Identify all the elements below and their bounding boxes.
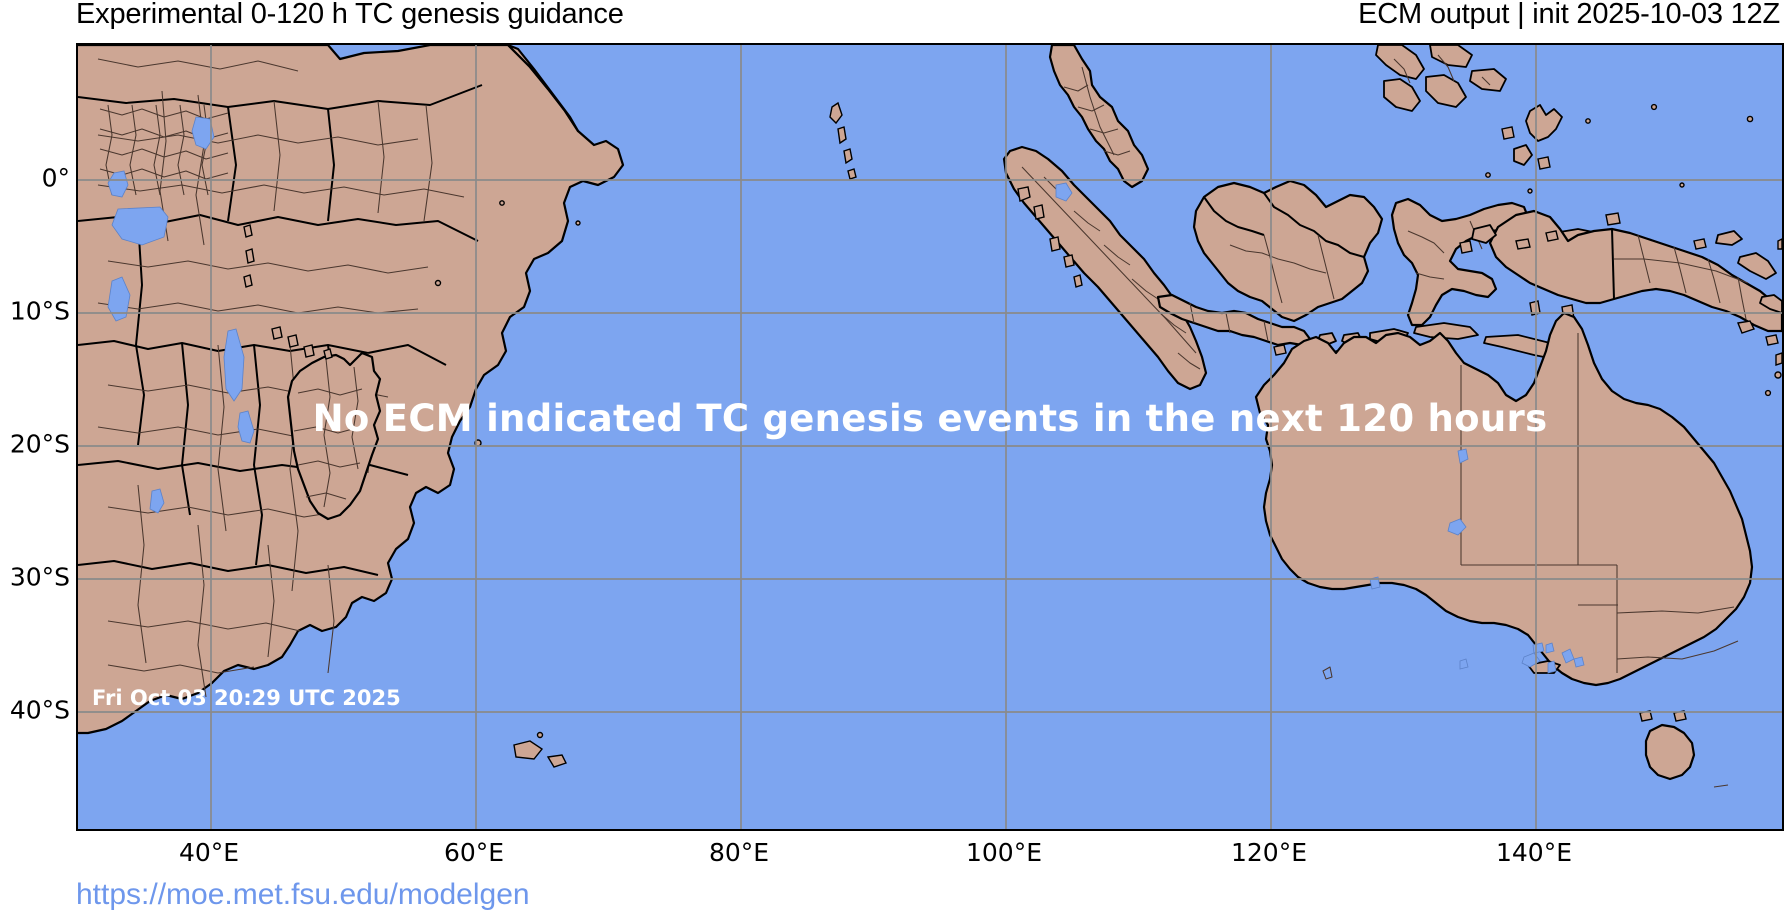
page-title-right: ECM output | init 2025-10-03 12Z — [1358, 0, 1780, 31]
x-tick-60e: 60°E — [444, 838, 504, 867]
map-panel[interactable]: .land { fill:#cda694; stroke:#000000; st… — [76, 43, 1784, 831]
timestamp-label: Fri Oct 03 20:29 UTC 2025 — [92, 686, 401, 710]
map-canvas: .land { fill:#cda694; stroke:#000000; st… — [78, 45, 1782, 829]
world-map-graphic: .land { fill:#cda694; stroke:#000000; st… — [78, 45, 1782, 829]
y-tick-20s: 20°S — [10, 430, 70, 459]
x-tick-80e: 80°E — [709, 838, 769, 867]
y-tick-0: 0° — [42, 164, 70, 193]
x-tick-140e: 140°E — [1496, 838, 1572, 867]
page-title-left: Experimental 0-120 h TC genesis guidance — [76, 0, 624, 31]
header: Experimental 0-120 h TC genesis guidance… — [0, 0, 1786, 40]
y-tick-30s: 30°S — [10, 563, 70, 592]
x-tick-40e: 40°E — [179, 838, 239, 867]
x-tick-120e: 120°E — [1231, 838, 1307, 867]
y-tick-10s: 10°S — [10, 297, 70, 326]
x-tick-100e: 100°E — [966, 838, 1042, 867]
source-url-link[interactable]: https://moe.met.fsu.edu/modelgen — [76, 878, 530, 912]
tc-genesis-guidance-page: Experimental 0-120 h TC genesis guidance… — [0, 0, 1786, 922]
y-tick-40s: 40°S — [10, 696, 70, 725]
